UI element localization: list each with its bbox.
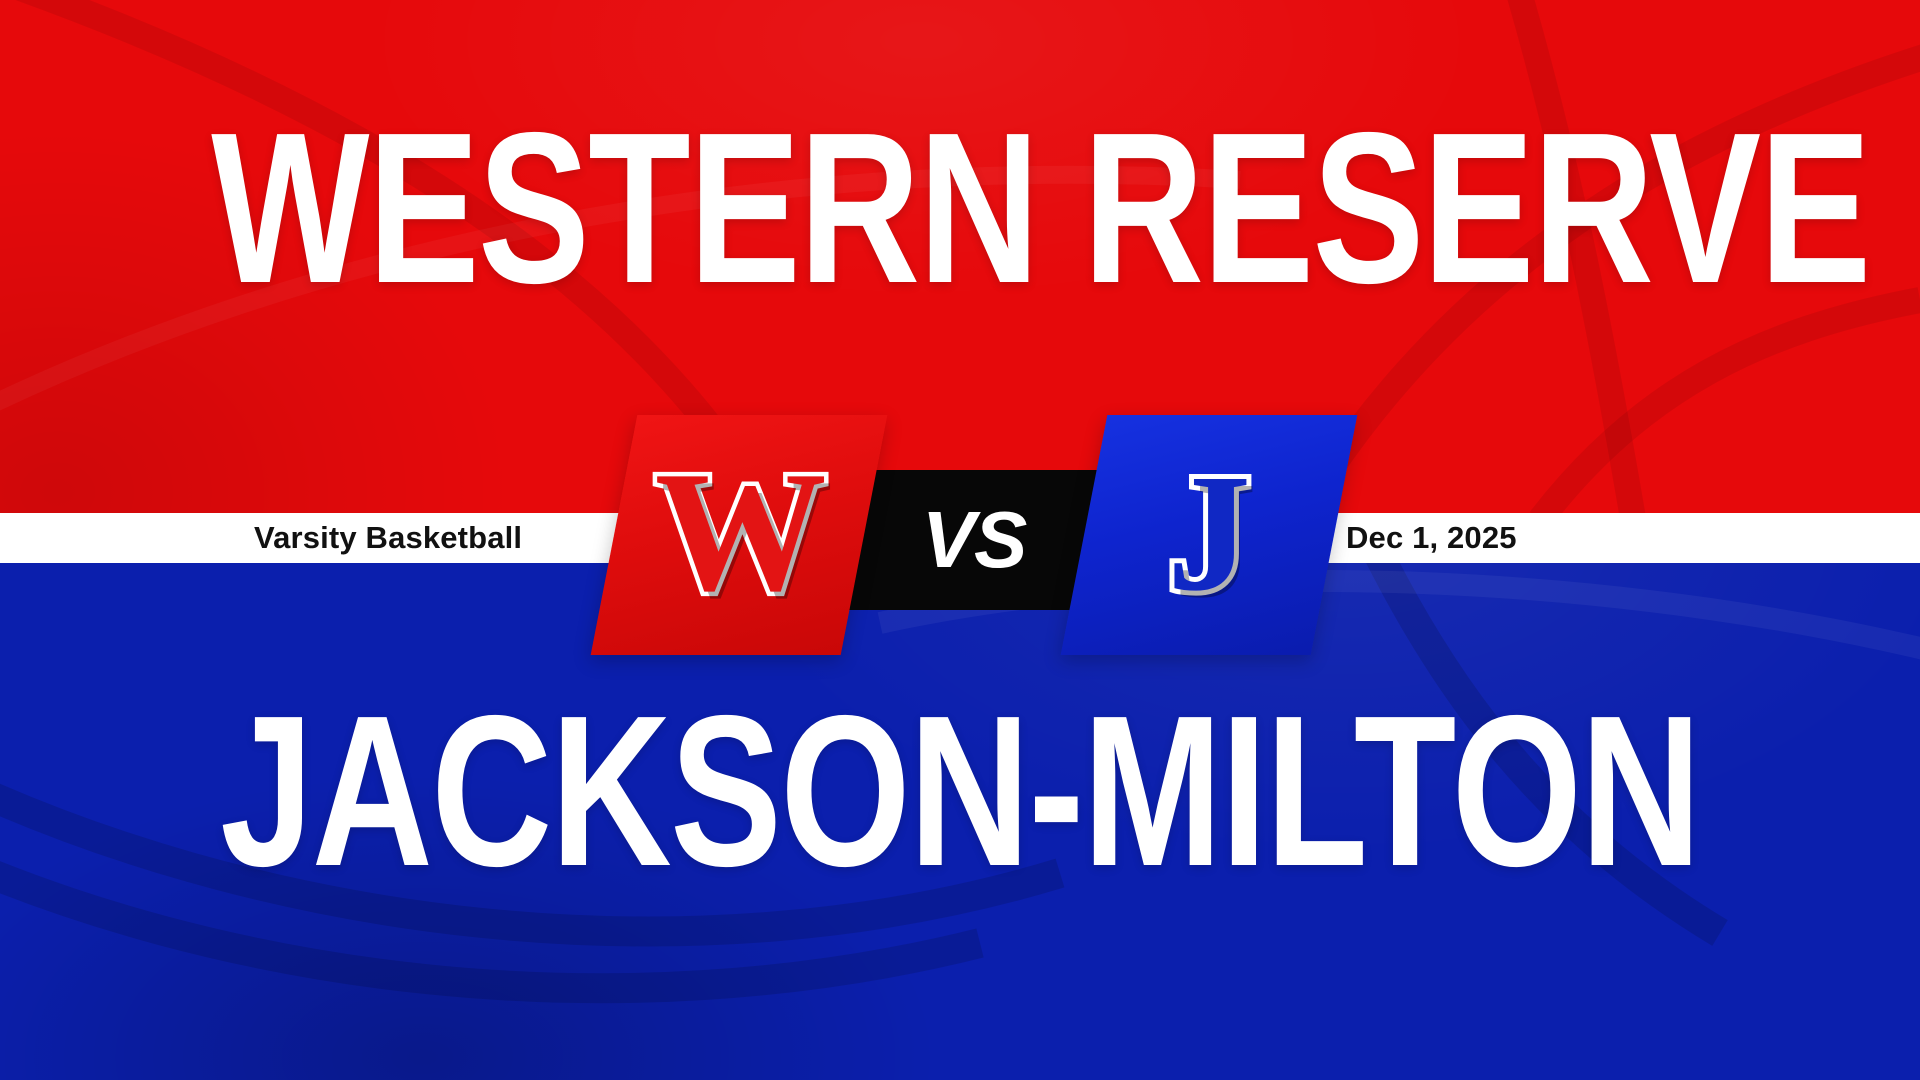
home-team-panel: WESTERN RESERVE: [0, 0, 1920, 513]
versus-label: VS: [922, 500, 1026, 580]
sport-label: Varsity Basketball: [254, 513, 522, 563]
away-team-name: JACKSON-MILTON: [211, 699, 1709, 884]
home-team-logo: W: [591, 415, 888, 655]
home-logo-letter-icon: W: [655, 446, 824, 618]
versus-badge: VS: [844, 470, 1103, 610]
date-label: Dec 1, 2025: [1346, 513, 1517, 563]
home-team-name: WESTERN RESERVE: [211, 116, 1709, 301]
matchup-graphic: WESTERN RESERVE JACKSON-MILTON Varsity B…: [0, 0, 1920, 1080]
away-logo-letter-icon: J: [1167, 449, 1251, 617]
away-team-logo: J: [1061, 415, 1358, 655]
